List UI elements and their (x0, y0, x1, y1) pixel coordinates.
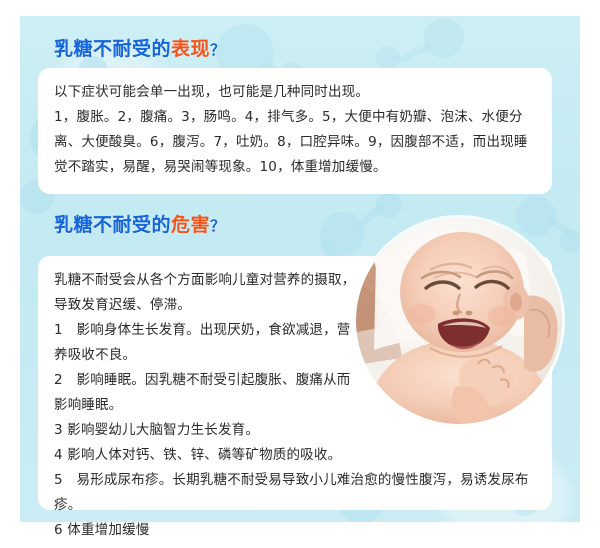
crying-baby-photo (356, 218, 562, 424)
section-1-paragraph-1: 以下症状可能会单一出现，也可能是几种同时出现。 (54, 80, 536, 105)
section-1-heading-prefix: 乳糖不耐受的 (54, 38, 171, 60)
molecule-circle-icon (376, 192, 402, 218)
section-2-paragraph-5: 4 影响人体对钙、铁、锌、磷等矿物质的吸收。 (54, 443, 536, 468)
crying-baby-illustration (356, 218, 562, 424)
section-2-heading-prefix: 乳糖不耐受的 (54, 214, 171, 236)
section-1-heading-question-mark: ？ (210, 41, 226, 59)
molecule-circle-icon (516, 196, 556, 236)
section-2-paragraph-3: 2 影响睡眠。因乳糖不耐受引起腹胀、腹痛从而影响睡眠。 (54, 368, 364, 418)
molecule-circle-icon (560, 230, 580, 252)
section-2-paragraph-2: 1 影响身体生长发育。出现厌奶，食欲减退，营养吸收不良。 (54, 318, 364, 368)
molecule-circle-icon (424, 18, 464, 58)
section-1-heading-highlight: 表现 (171, 38, 210, 60)
section-2-paragraph-7: 6 体重增加缓慢 (54, 518, 536, 543)
section-1-card: 以下症状可能会单一出现，也可能是几种同时出现。 1，腹胀。2，腹痛。3，肠鸣。4… (38, 68, 552, 194)
section-2-paragraph-6: 5 易形成尿布疹。长期乳糖不耐受易导致小儿难治愈的慢性腹泻，易诱发尿布疹。 (54, 468, 536, 518)
section-2-paragraph-4: 3 影响婴幼儿大脑智力生长发育。 (54, 418, 364, 443)
section-2-paragraph-1: 乳糖不耐受会从各个方面影响儿童对营养的摄取，导致发育迟缓、停滞。 (54, 268, 364, 318)
molecule-circle-icon (320, 212, 364, 256)
section-1-paragraph-2: 1，腹胀。2，腹痛。3，肠鸣。4，排气多。5，大便中有奶瓣、泡沫、水便分离、大便… (54, 105, 536, 180)
section-1-heading: 乳糖不耐受的表现？ (54, 34, 226, 61)
section-2-heading-question-mark: ？ (210, 217, 226, 235)
section-2-heading: 乳糖不耐受的危害？ (54, 210, 226, 237)
molecule-circle-icon (376, 46, 400, 70)
infographic-page: 乳糖不耐受的表现？ 以下症状可能会单一出现，也可能是几种同时出现。 1，腹胀。2… (0, 0, 600, 548)
section-2-heading-highlight: 危害 (171, 214, 210, 236)
